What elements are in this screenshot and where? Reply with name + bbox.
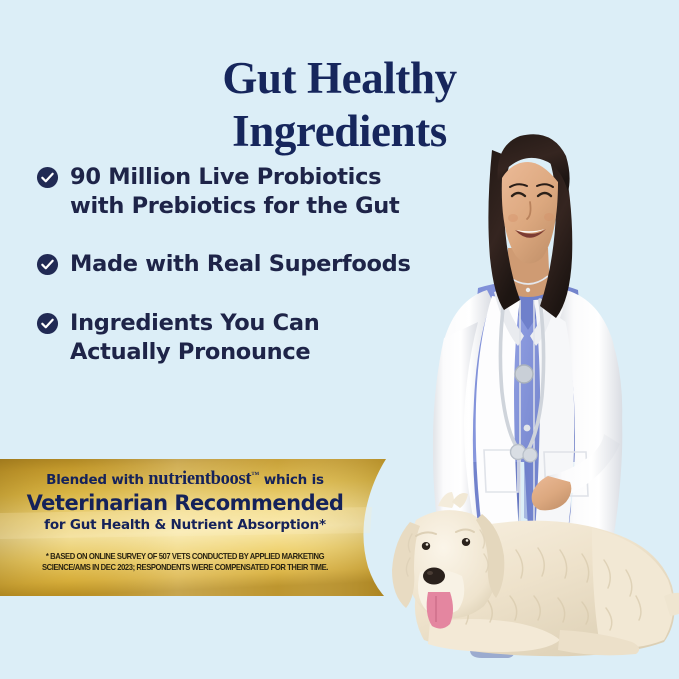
headline-line-1: Gut Healthy bbox=[0, 52, 679, 105]
check-circle-icon bbox=[36, 253, 59, 276]
veterinarian-figure bbox=[433, 134, 622, 658]
banner-text-block: Blended with nutrientboost™ which is Vet… bbox=[0, 459, 370, 596]
trademark-symbol: ™ bbox=[251, 470, 259, 479]
benefit-line-1: Ingredients You Can bbox=[70, 309, 319, 338]
marketing-banner-image: Gut Healthy Ingredients 90 Million Live … bbox=[0, 0, 679, 679]
dog-figure bbox=[392, 492, 679, 656]
benefit-text: 90 Million Live Probiotics with Prebioti… bbox=[70, 163, 399, 222]
banner-pre-brand-text: Blended with bbox=[46, 472, 144, 488]
banner-post-brand-text: which is bbox=[264, 472, 324, 488]
page-title: Gut Healthy Ingredients bbox=[0, 52, 679, 158]
vet-recommended-banner: Blended with nutrientboost™ which is Vet… bbox=[0, 459, 390, 596]
list-item: Ingredients You Can Actually Pronounce bbox=[36, 309, 456, 368]
benefit-text: Ingredients You Can Actually Pronounce bbox=[70, 309, 319, 368]
benefit-line-2: Actually Pronounce bbox=[70, 338, 319, 367]
benefit-line-2: with Prebiotics for the Gut bbox=[70, 192, 399, 221]
banner-disclaimer: * BASED ON ONLINE SURVEY OF 507 VETS CON… bbox=[15, 551, 355, 573]
benefit-text: Made with Real Superfoods bbox=[70, 250, 411, 279]
check-circle-icon bbox=[36, 312, 59, 335]
disclaimer-line-2: SCIENCE/AMS IN DEC 2023; RESPONDENTS WER… bbox=[15, 562, 355, 573]
list-item: 90 Million Live Probiotics with Prebioti… bbox=[36, 163, 456, 222]
list-item: Made with Real Superfoods bbox=[36, 250, 456, 279]
headline-line-2: Ingredients bbox=[0, 105, 679, 158]
benefits-list: 90 Million Live Probiotics with Prebioti… bbox=[36, 163, 456, 367]
benefit-line-1: 90 Million Live Probiotics bbox=[70, 163, 399, 192]
benefit-line-1: Made with Real Superfoods bbox=[70, 250, 411, 279]
disclaimer-line-1: * BASED ON ONLINE SURVEY OF 507 VETS CON… bbox=[15, 551, 355, 562]
banner-subline: for Gut Health & Nutrient Absorption* bbox=[0, 517, 370, 533]
brand-name-text: nutrientboost bbox=[148, 469, 251, 489]
check-circle-icon bbox=[36, 166, 59, 189]
nutrientboost-wordmark: nutrientboost™ bbox=[148, 469, 259, 489]
banner-brand-line: Blended with nutrientboost™ which is bbox=[0, 469, 370, 490]
banner-headline: Veterinarian Recommended bbox=[0, 491, 370, 515]
